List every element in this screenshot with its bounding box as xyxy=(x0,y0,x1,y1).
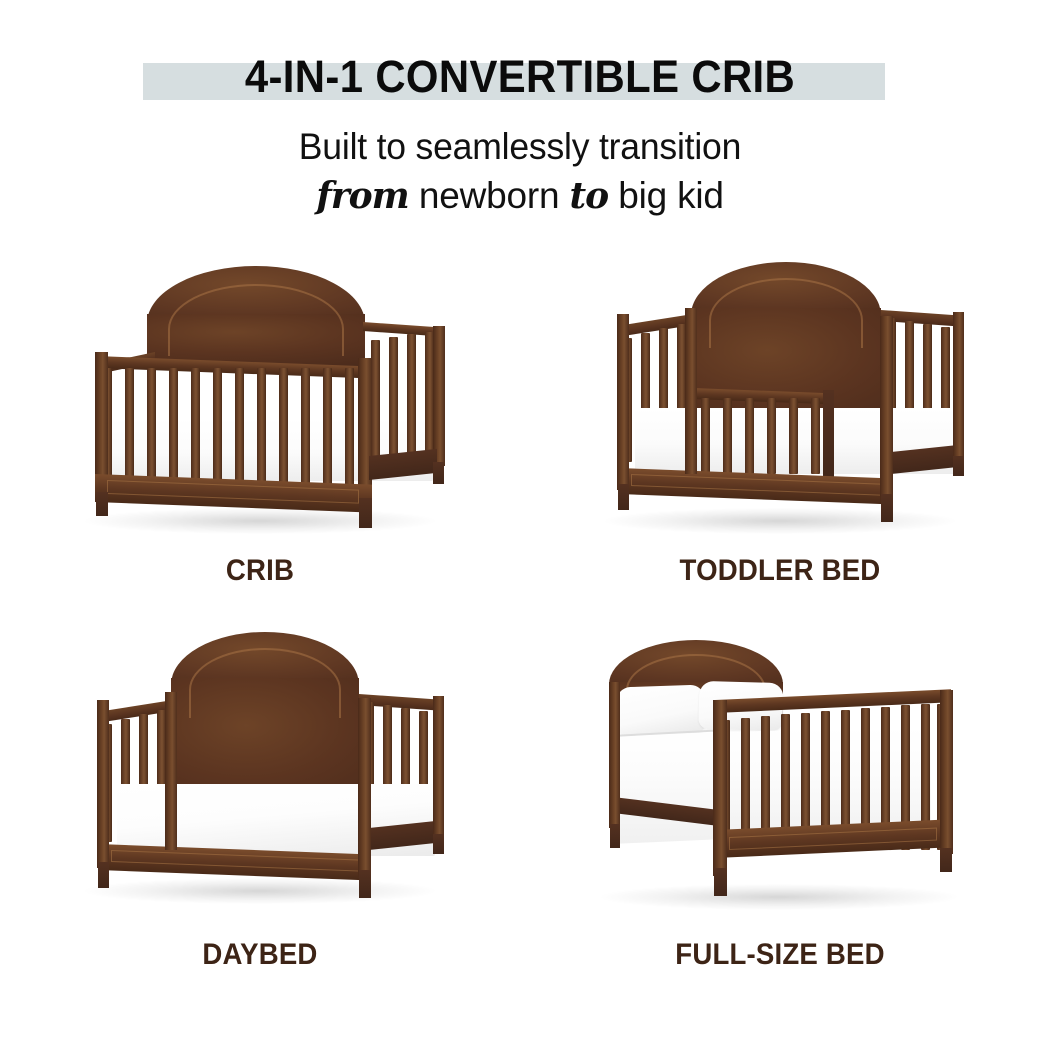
daybed-leg-front-left xyxy=(98,862,109,888)
fullbed-post-headboard-left xyxy=(609,682,620,828)
fullbed-leg-foot-left xyxy=(714,868,727,896)
configuration-grid: CRIB xyxy=(0,248,1040,1040)
subtitle-line-2: from newborn to big kid xyxy=(0,173,1040,219)
configuration-cell-toddler-bed[interactable]: TODDLER BED xyxy=(520,248,1040,644)
fullbed-pillow-left xyxy=(616,684,706,735)
toddler-post-front-left xyxy=(617,314,629,490)
configuration-cell-daybed[interactable]: DAYBED xyxy=(0,620,520,1016)
fullbed-post-footboard-right xyxy=(940,690,953,854)
daybed-floor-shadow xyxy=(85,878,435,904)
label-full-size-bed: FULL-SIZE BED xyxy=(541,938,1019,972)
daybed-leg-back-right xyxy=(433,834,444,854)
crib-floor-shadow xyxy=(85,508,435,534)
daybed-post-front-left xyxy=(97,700,109,868)
toddler-leg-front-left xyxy=(618,484,629,510)
crib-leg-front-right xyxy=(359,498,372,528)
fullbed-leg-head-left xyxy=(610,824,620,848)
label-crib: CRIB xyxy=(21,554,499,588)
daybed-leg-front-right xyxy=(359,870,371,898)
subtitle-script-from: from xyxy=(316,175,409,217)
crib-leg-back-right xyxy=(433,462,444,484)
daybed-post-front-right xyxy=(358,698,371,878)
header: 4-IN-1 CONVERTIBLE CRIB Built to seamles… xyxy=(0,0,1040,240)
toddler-guard-rail-slats xyxy=(695,398,831,474)
title-block: 4-IN-1 CONVERTIBLE CRIB xyxy=(0,48,1040,108)
label-daybed: DAYBED xyxy=(21,938,499,972)
fullbed-floor-shadow xyxy=(601,884,957,910)
toddler-guard-rail-post xyxy=(823,390,834,478)
toddler-post-back-right xyxy=(953,312,964,460)
configuration-cell-full-size-bed[interactable]: FULL-SIZE BED xyxy=(520,620,1040,1016)
toddler-leg-front-right xyxy=(881,494,893,522)
crib-leg-front-left xyxy=(96,492,108,516)
subtitle-plain-bigkid: big kid xyxy=(618,175,724,216)
crib-post-back-right xyxy=(433,326,445,466)
crib-illustration xyxy=(75,256,445,546)
crib-right-slats xyxy=(365,332,439,460)
toddler-post-mid-left xyxy=(685,308,697,474)
page-title: 4-IN-1 CONVERTIBLE CRIB xyxy=(36,48,1003,106)
subtitle-script-to: to xyxy=(569,175,608,217)
subtitle-line-1: Built to seamlessly transition xyxy=(21,124,1019,170)
fullbed-leg-foot-right xyxy=(940,848,952,872)
toddler-leg-back-right xyxy=(953,456,964,476)
configuration-cell-crib[interactable]: CRIB xyxy=(0,248,520,644)
toddler-bed-illustration xyxy=(595,256,965,546)
daybed-post-back-right xyxy=(433,696,444,838)
subtitle-plain-newborn: newborn xyxy=(419,175,560,216)
fullbed-post-footboard-left xyxy=(713,700,727,876)
daybed-illustration xyxy=(75,628,445,918)
toddler-floor-shadow xyxy=(605,508,955,534)
toddler-post-front-right xyxy=(880,316,893,502)
crib-front-slats xyxy=(99,368,363,486)
label-toddler-bed: TODDLER BED xyxy=(541,554,1019,588)
daybed-post-mid-left xyxy=(165,692,177,850)
infographic-page: 4-IN-1 CONVERTIBLE CRIB Built to seamles… xyxy=(0,0,1040,1040)
full-size-bed-illustration xyxy=(595,628,965,918)
